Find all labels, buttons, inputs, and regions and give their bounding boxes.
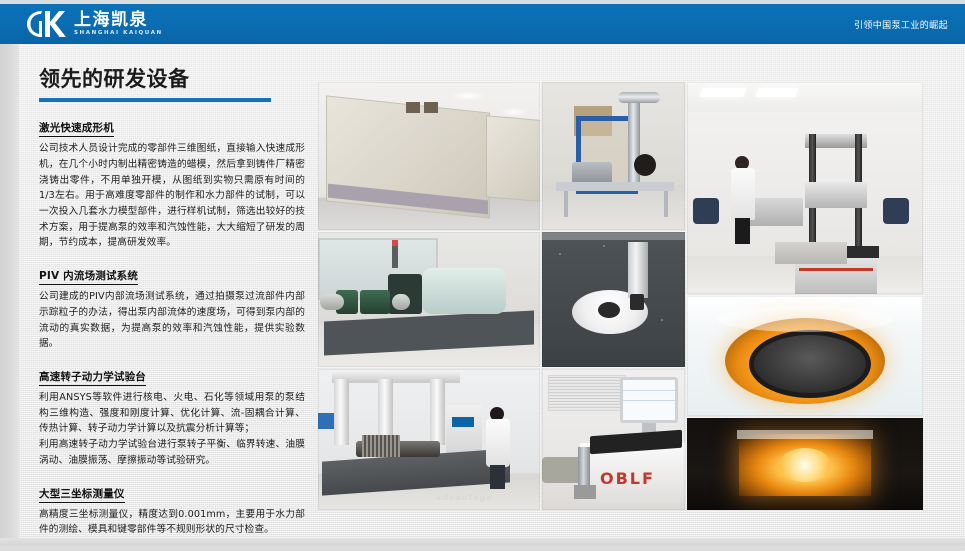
section-piv-system: PIV 内流场测试系统 公司建成的PIV内部流场测试系统，通过拍摄泵过流部件内部… [39,264,305,352]
brand-name-en: SHANGHAI KAIQUAN [74,31,163,37]
title-underline [39,98,271,102]
photo-universal-testing-machine [687,82,923,294]
photo-optical-cell-bottom [687,418,923,510]
photo-cmm-impeller-scan [542,232,685,367]
section-body: 高精度三坐标测量仪，精度达到0.001mm，主要用于水力部件的测绘、模具和键零部… [39,507,305,538]
slide-content: 领先的研发设备 激光快速成形机 公司技术人员设计完成的零部件三维图纸，直接输入快… [19,44,965,538]
photo-optical-cell-top [687,296,923,416]
text-column: 领先的研发设备 激光快速成形机 公司技术人员设计完成的零部件三维图纸，直接输入快… [39,68,305,551]
brand-logo-text: 上海凯泉 SHANGHAI KAIQUAN [74,12,163,37]
photo-laser-sintering-machines [318,82,540,230]
section-heading: PIV 内流场测试系统 [39,268,138,285]
brand-logo[interactable]: 上海凯泉 SHANGHAI KAIQUAN [26,9,163,39]
header-tagline: 引领中国泵工业的崛起 [854,4,948,44]
section-body: 利用ANSYS等软件进行核电、火电、石化等领域用泵的泵结构三维构造、强度和刚度计… [39,390,305,469]
section-rotor-dynamics: 高速转子动力学试验台 利用ANSYS等软件进行核电、火电、石化等领域用泵的泵结构… [39,365,305,469]
bottom-strip [0,538,965,546]
photo-piv-test-rig [542,82,685,230]
section-heading: 大型三坐标测量仪 [39,486,125,503]
photo-oblf-spectrometer: OBLF [542,369,685,510]
slide-page: 上海凯泉 SHANGHAI KAIQUAN 引领中国泵工业的崛起 领先的研发设备… [0,0,965,546]
section-heading: 激光快速成形机 [39,120,114,137]
section-laser-forming: 激光快速成形机 公司技术人员设计完成的零部件三维图纸，直接输入快速成形机，在几个… [39,116,305,251]
section-cmm: 大型三坐标测量仪 高精度三坐标测量仪，精度达到0.001mm，主要用于水力部件的… [39,482,305,538]
left-gutter [0,44,19,546]
brand-name-cn: 上海凯泉 [74,12,163,29]
section-body: 公司技术人员设计完成的零部件三维图纸，直接输入快速成形机，在几个小时内制出精密铸… [39,141,305,251]
photo-grid: advantage OBLF [318,82,923,510]
photo-cmm-shaft-inspection: advantage [318,369,540,510]
section-heading: 高速转子动力学试验台 [39,369,146,386]
section-body: 公司建成的PIV内部流场测试系统，通过拍摄泵过流部件内部示踪粒子的办法，得出泵内… [39,289,305,352]
photo-rotor-dynamics-test-bed [318,232,540,367]
page-title: 领先的研发设备 [39,68,305,91]
site-header: 上海凯泉 SHANGHAI KAIQUAN 引领中国泵工业的崛起 [0,4,965,44]
kaiquan-k-mark-icon [26,9,68,39]
